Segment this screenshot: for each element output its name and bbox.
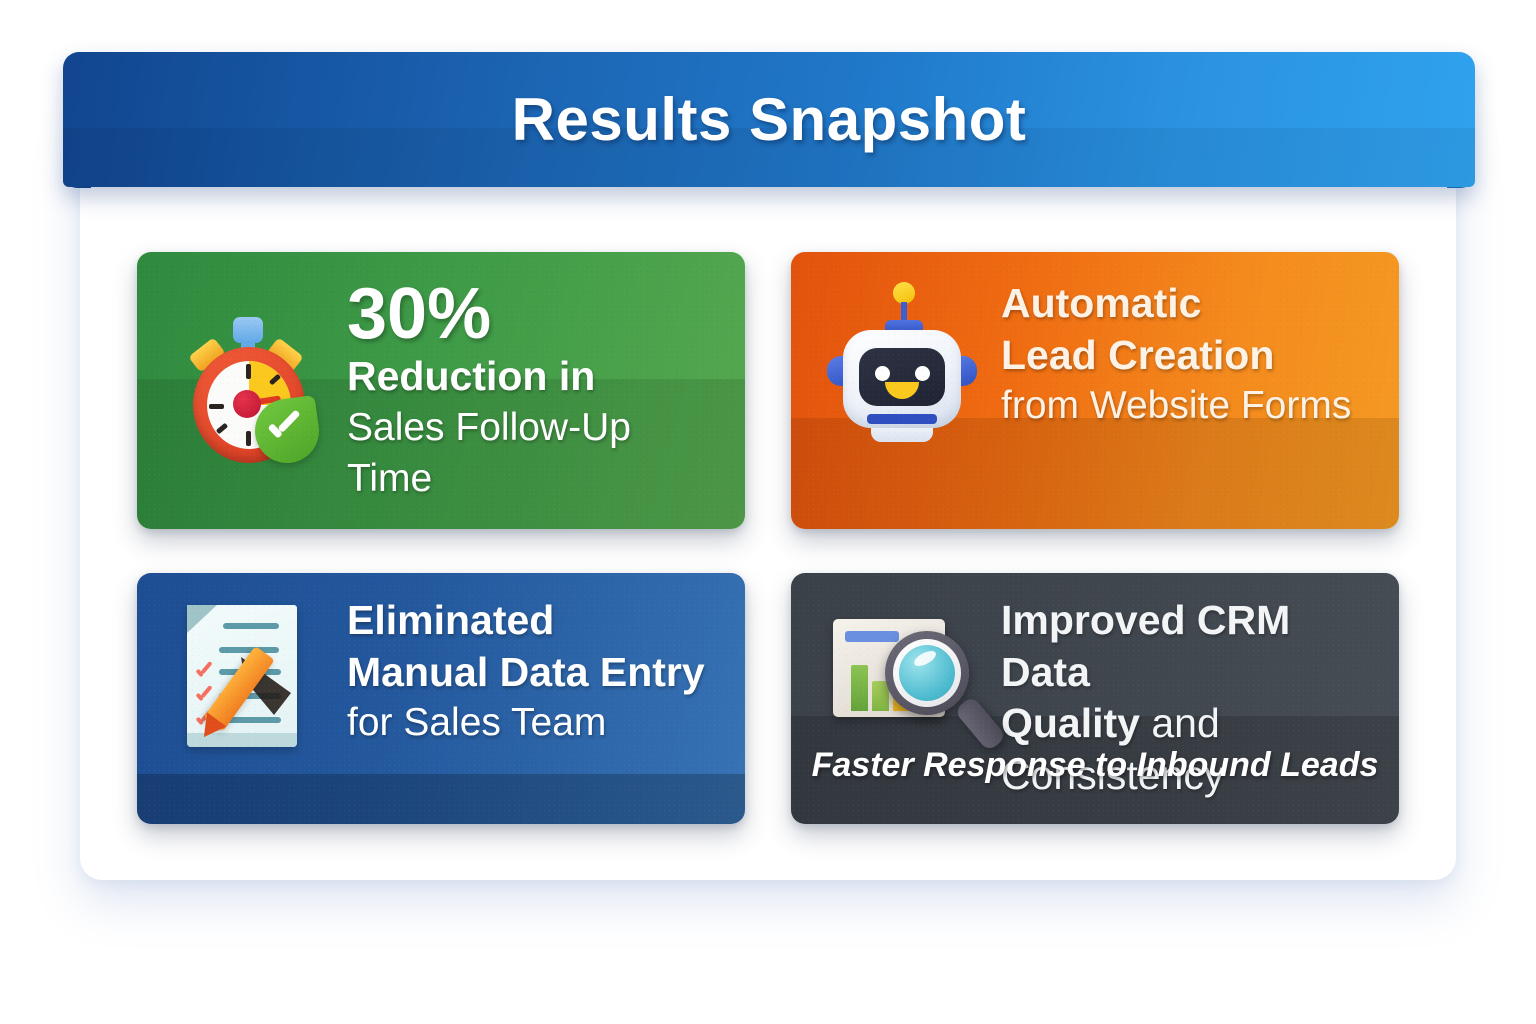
card-footer-note: Faster Response to Inbound Leads [791, 716, 1399, 824]
headline-subtitle: for Sales Team [347, 698, 725, 749]
stopwatch-check-icon [171, 311, 321, 471]
card-body: Automatic Lead Creation from Website For… [791, 252, 1399, 529]
card-body: Eliminated Manual Data Entry for Sales T… [137, 573, 745, 824]
card-improved-crm-data-quality[interactable]: Improved CRM Data Quality and Consistenc… [791, 573, 1399, 824]
headline-line-2: Manual Data Entry [347, 647, 725, 699]
results-card-grid: 30% Reduction in Sales Follow-Up Time [137, 252, 1399, 822]
card-body: 30% Reduction in Sales Follow-Up Time [137, 252, 745, 529]
robot-icon [825, 278, 975, 438]
infographic-stage: Results Snapshot [0, 0, 1536, 1024]
card-text: Automatic Lead Creation from Website For… [1001, 278, 1379, 432]
stat-label-bold: Reduction in [347, 351, 725, 403]
card-body: Improved CRM Data Quality and Consistenc… [791, 573, 1399, 716]
stat-value: 30% [347, 277, 725, 352]
headline-line-1: Improved CRM Data [1001, 595, 1379, 698]
checklist-pencil-icon [171, 595, 321, 755]
card-automatic-lead-creation[interactable]: Automatic Lead Creation from Website For… [791, 252, 1399, 529]
card-reduction-followup-time[interactable]: 30% Reduction in Sales Follow-Up Time [137, 252, 745, 529]
header-banner: Results Snapshot [63, 52, 1475, 187]
headline-subtitle: from Website Forms [1001, 381, 1379, 432]
page-title: Results Snapshot [512, 85, 1027, 154]
card-text: 30% Reduction in Sales Follow-Up Time [347, 277, 725, 505]
headline-line-1: Automatic [1001, 278, 1379, 330]
card-text: Eliminated Manual Data Entry for Sales T… [347, 595, 725, 749]
card-eliminated-manual-data-entry[interactable]: Eliminated Manual Data Entry for Sales T… [137, 573, 745, 824]
headline-line-1: Eliminated [347, 595, 725, 647]
headline-line-2: Lead Creation [1001, 330, 1379, 382]
stat-label-detail: Sales Follow-Up Time [347, 403, 725, 504]
